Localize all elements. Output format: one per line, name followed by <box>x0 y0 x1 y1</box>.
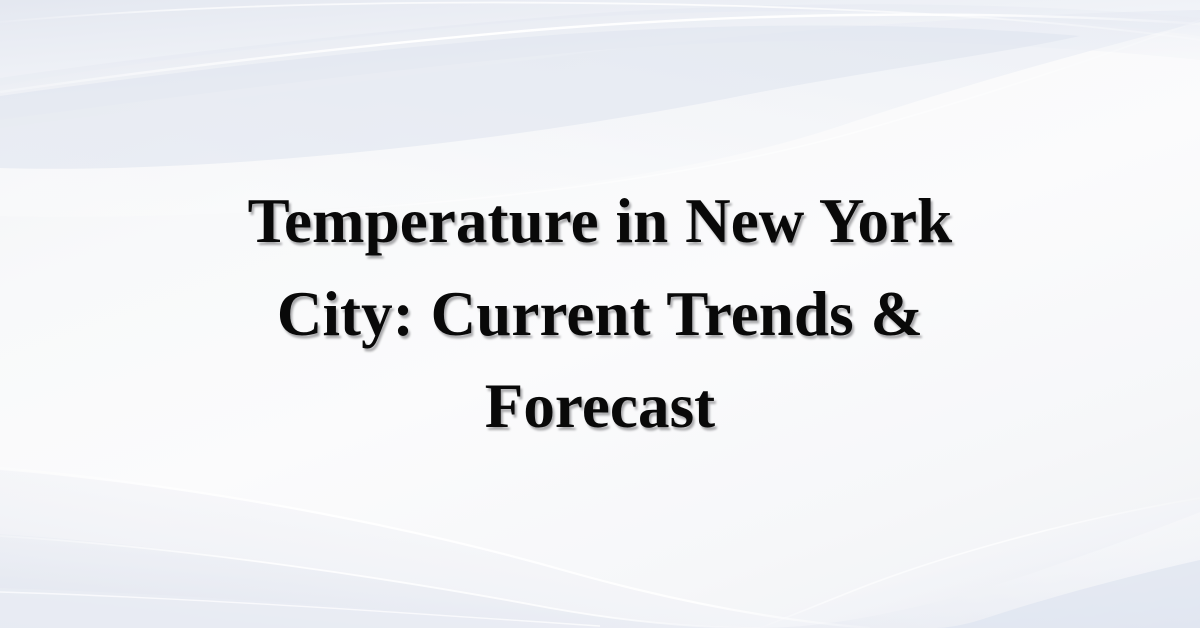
title-banner: Temperature in New York City: Current Tr… <box>0 0 1200 628</box>
title-container: Temperature in New York City: Current Tr… <box>0 0 1200 628</box>
page-title: Temperature in New York City: Current Tr… <box>180 175 1020 453</box>
